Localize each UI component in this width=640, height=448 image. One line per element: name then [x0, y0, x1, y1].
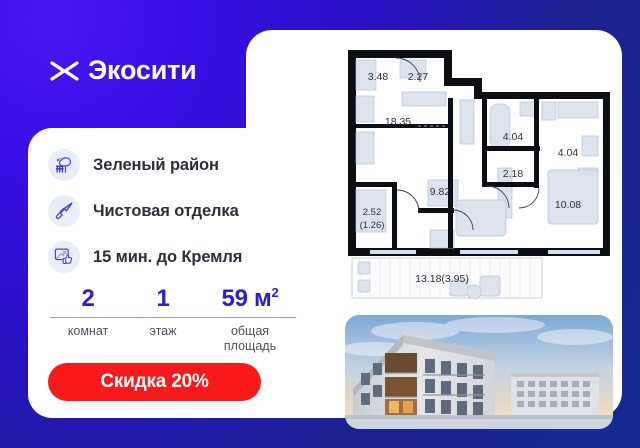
stat-rooms-caption-wrap: комнат — [50, 324, 126, 353]
stat-area-caption-line2: площадь — [200, 339, 300, 354]
stats-captions-row: комнат этаж общая площадь — [50, 324, 300, 353]
stat-area-unit-exponent: 2 — [272, 285, 279, 300]
stat-area: 59 м2 — [200, 285, 300, 313]
stat-floor: 1 — [126, 285, 200, 313]
feature-label: 15 мин. до Кремля — [93, 248, 242, 267]
stat-floor-caption-wrap: этаж — [126, 324, 200, 353]
area-label: 4.04 — [503, 131, 524, 143]
stat-rooms-value: 2 — [50, 285, 126, 313]
stats-values-row: 2 1 59 м2 — [50, 285, 300, 313]
feature-item-finishing[interactable]: Чистовая отделка — [48, 188, 298, 234]
stat-area-value: 59 м2 — [200, 285, 300, 313]
feature-label: Зеленый район — [93, 156, 219, 175]
park-tree-icon — [48, 149, 80, 181]
stat-rooms: 2 — [50, 285, 126, 313]
area-label: 13.18(3.95) — [415, 273, 469, 285]
brand-logo[interactable]: Экосити — [50, 57, 197, 84]
stat-floor-caption: этаж — [126, 324, 200, 339]
area-label: 2.18 — [503, 168, 524, 180]
x-mark-icon — [50, 60, 80, 82]
stat-area-number: 59 — [222, 285, 248, 312]
trowel-icon — [48, 195, 80, 227]
stat-rooms-caption: комнат — [50, 324, 126, 339]
stats-block: 2 1 59 м2 комнат этаж — [50, 285, 300, 353]
area-label: 10.08 — [555, 199, 581, 211]
promo-card-root: Экосити Зеленый район — [0, 0, 640, 448]
feature-item-kremlin-distance[interactable]: 15 мин. до Кремля — [48, 234, 298, 280]
area-label: 3.48 — [368, 71, 389, 83]
stat-area-caption-line1: общая — [200, 324, 300, 339]
area-label: (1.26) — [360, 220, 385, 231]
stats-divider — [50, 317, 296, 318]
area-label: 9.82 — [430, 186, 451, 198]
map-thumbsup-icon — [48, 241, 80, 273]
area-label: 2.52 — [363, 207, 382, 218]
floor-plan[interactable]: 3.48 2.27 18.35 4.04 4.04 2.18 10.08 9.8… — [330, 40, 610, 302]
feature-label: Чистовая отделка — [93, 202, 239, 221]
stat-area-caption-wrap: общая площадь — [200, 324, 300, 353]
building-photo[interactable] — [345, 315, 613, 429]
feature-list: Зеленый район Чистовая отделка — [48, 142, 298, 280]
area-label: 4.04 — [558, 147, 579, 159]
area-label: 18.35 — [385, 116, 411, 128]
feature-item-green-district[interactable]: Зеленый район — [48, 142, 298, 188]
brand-name: Экосити — [88, 57, 197, 84]
stat-floor-value: 1 — [126, 285, 200, 313]
discount-button[interactable]: Скидка 20% — [48, 363, 261, 401]
stat-area-unit: м — [254, 285, 271, 312]
